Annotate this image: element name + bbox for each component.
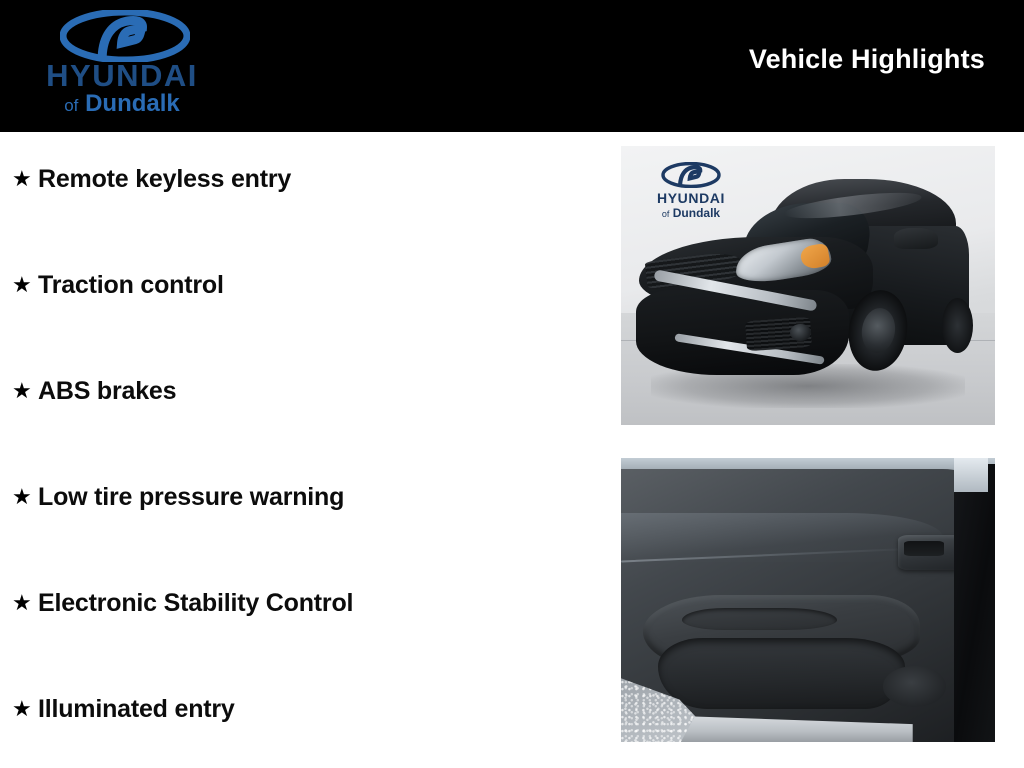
car-foglamp [790, 324, 811, 341]
door-glass [954, 458, 988, 492]
list-item: ★ Electronic Stability Control [12, 586, 353, 620]
dealer-watermark: HYUNDAI of Dundalk [639, 162, 743, 219]
brand-sub-name: Dundalk [85, 90, 180, 117]
list-item: ★ Low tire pressure warning [12, 480, 344, 514]
brand-sub-prefix: of [64, 96, 78, 115]
car-side-mirror [894, 228, 939, 249]
page-header: HYUNDAI of Dundalk Vehicle Highlights [0, 0, 1024, 132]
car-rear-wheel [942, 298, 973, 353]
feature-label: Remote keyless entry [38, 165, 291, 194]
star-icon: ★ [12, 380, 38, 402]
feature-label: Illuminated entry [38, 695, 235, 724]
feature-label: ABS brakes [38, 377, 176, 406]
watermark-sub-name: Dundalk [673, 206, 720, 220]
list-item: ★ ABS brakes [12, 374, 176, 408]
list-item: ★ Illuminated entry [12, 692, 235, 726]
armrest-inset [682, 608, 837, 630]
list-item: ★ Traction control [12, 268, 224, 302]
feature-label: Traction control [38, 271, 224, 300]
feature-label: Low tire pressure warning [38, 483, 344, 512]
star-icon: ★ [12, 168, 38, 190]
star-icon: ★ [12, 486, 38, 508]
star-icon: ★ [12, 698, 38, 720]
hyundai-oval-icon [661, 162, 721, 188]
vehicle-interior-door-photo[interactable] [621, 458, 995, 742]
vehicle-exterior-photo[interactable]: HYUNDAI of Dundalk [621, 146, 995, 425]
door-pillar [954, 464, 995, 742]
feature-label: Electronic Stability Control [38, 589, 353, 618]
hyundai-oval-icon [60, 10, 190, 62]
star-icon: ★ [12, 592, 38, 614]
watermark-sub-prefix: of [662, 209, 670, 219]
list-item: ★ Remote keyless entry [12, 162, 291, 196]
door-storage-pocket [658, 638, 905, 709]
brand-wordmark: HYUNDAI [22, 60, 222, 91]
door-handle-recess [904, 541, 944, 556]
dealer-logo[interactable]: HYUNDAI of Dundalk [22, 6, 222, 126]
brand-sub-wrap: of Dundalk [22, 92, 222, 116]
watermark-title: HYUNDAI [639, 191, 743, 205]
watermark-sub-wrap: of Dundalk [639, 207, 743, 219]
car-wheel-rim [859, 305, 898, 354]
door-speaker [883, 666, 947, 707]
star-icon: ★ [12, 274, 38, 296]
page-title: Vehicle Highlights [749, 44, 985, 75]
vehicle-highlights-list: ★ Remote keyless entry ★ Traction contro… [0, 132, 600, 768]
